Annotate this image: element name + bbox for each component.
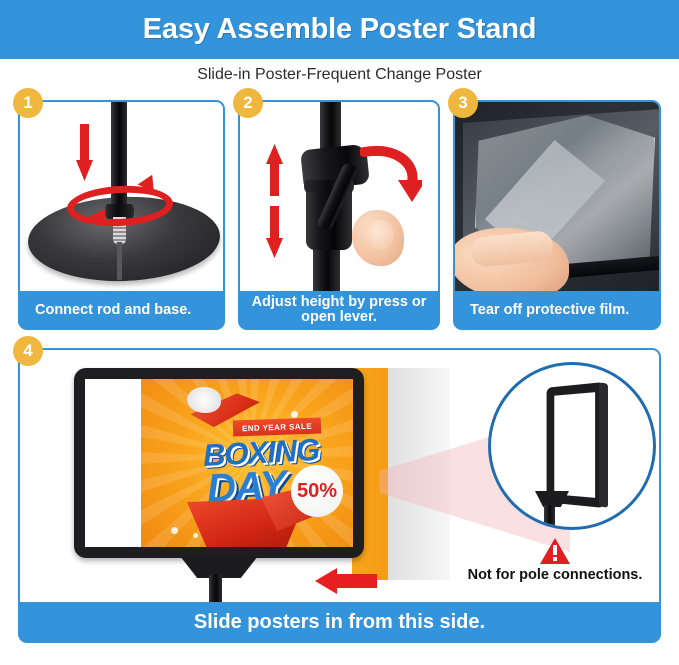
step-badge-2: 2 <box>233 88 263 118</box>
page-subtitle: Slide-in Poster-Frequent Change Poster <box>197 66 482 84</box>
step-badge-3-number: 3 <box>458 93 467 113</box>
step-2-caption: Adjust height by press or open lever. <box>239 291 439 329</box>
poster-ribbon-text: END YEAR SALE <box>242 421 312 432</box>
step-badge-4: 4 <box>13 336 43 366</box>
step-2-caption-line2: open lever. <box>301 310 377 325</box>
poster-dot <box>171 527 178 534</box>
step-badge-4-number: 4 <box>23 341 32 361</box>
step-badge-2-number: 2 <box>243 93 252 113</box>
step-4-caption-text: Slide posters in from this side. <box>194 611 485 634</box>
step-3-caption: Tear off protective film. <box>454 291 660 329</box>
header-bar: Easy Assemble Poster Stand <box>0 0 679 59</box>
step-badge-1-number: 1 <box>23 93 32 113</box>
step-panel-4: END YEAR SALE BOXING DAY 50% <box>18 348 661 643</box>
frame-empty-slot <box>85 379 141 547</box>
step-3-illustration <box>455 102 659 294</box>
callout-circle <box>488 362 656 530</box>
step-panel-1: Connect rod and base. <box>18 100 225 330</box>
gift-bow-icon <box>187 387 221 413</box>
warning-block: Not for pole connections. <box>450 538 659 600</box>
step-4-caption: Slide posters in from this side. <box>19 602 660 642</box>
boxing-day-poster: END YEAR SALE BOXING DAY 50% <box>141 379 353 547</box>
step-1-caption-text: Connect rod and base. <box>35 302 191 318</box>
subtitle-row: Slide-in Poster-Frequent Change Poster <box>0 59 679 90</box>
warning-triangle-icon <box>540 538 570 564</box>
infographic-page: Easy Assemble Poster Stand Slide-in Post… <box>0 0 679 665</box>
step-3-caption-text: Tear off protective film. <box>470 302 629 318</box>
step-panel-3: Tear off protective film. <box>453 100 661 330</box>
step-2-caption-line1: Adjust height by press or <box>252 295 427 310</box>
red-arrow-left-icon <box>315 568 377 594</box>
empty-frame-side-icon <box>599 382 608 507</box>
poster-dot <box>193 533 198 538</box>
screw-shaft-icon <box>117 242 122 280</box>
poster-dot <box>291 411 298 418</box>
frame-pole-icon <box>209 574 222 605</box>
discount-badge: 50% <box>291 465 343 517</box>
page-title: Easy Assemble Poster Stand <box>143 13 536 46</box>
step-badge-1: 1 <box>13 88 43 118</box>
red-curved-arrow-icon <box>360 142 422 204</box>
step-4-illustration: END YEAR SALE BOXING DAY 50% <box>20 350 659 605</box>
thumbnail-icon <box>366 220 394 250</box>
step-badge-3: 3 <box>448 88 478 118</box>
step-1-illustration <box>20 102 223 294</box>
step-1-caption: Connect rod and base. <box>19 291 224 329</box>
red-arrow-up-icon <box>266 144 283 196</box>
red-arrow-down-icon <box>266 206 283 258</box>
step-2-illustration <box>240 102 438 294</box>
empty-poster-frame-icon <box>547 382 605 508</box>
warning-text: Not for pole connections. <box>468 567 643 583</box>
poster-frame-icon: END YEAR SALE BOXING DAY 50% <box>74 368 364 558</box>
red-arrow-down-icon <box>76 124 93 184</box>
empty-frame-pole-icon <box>544 505 555 530</box>
step-panel-2: Adjust height by press or open lever. <box>238 100 440 330</box>
